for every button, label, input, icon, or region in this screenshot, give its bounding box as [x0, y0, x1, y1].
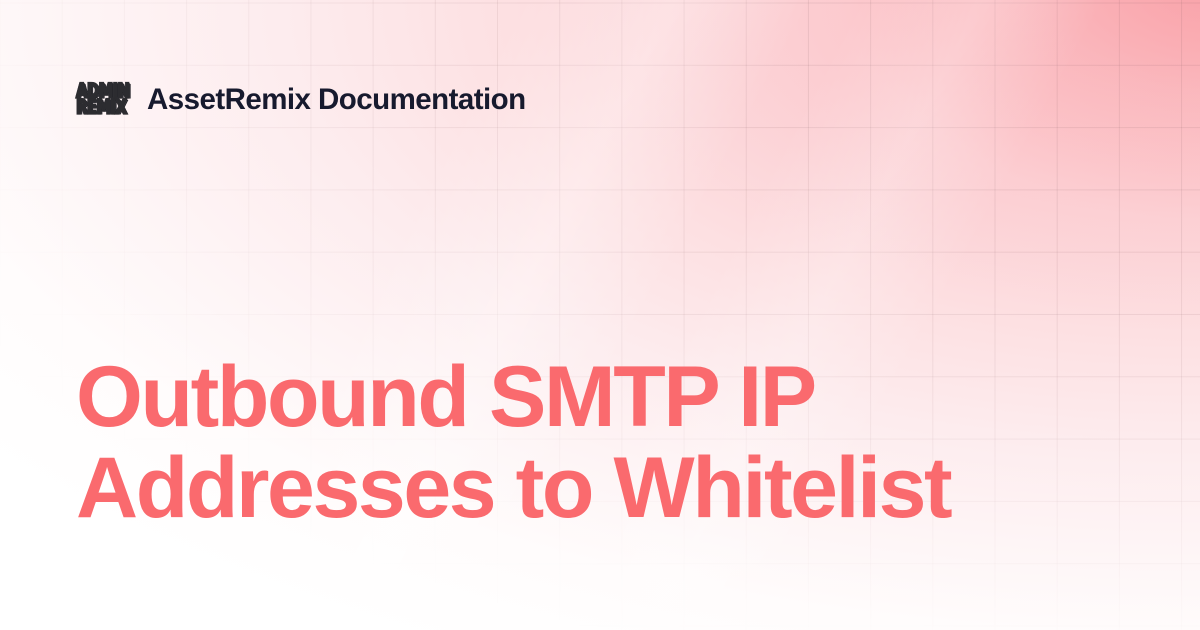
page-title-line-2: Addresses to Whitelist [76, 443, 1136, 534]
page-title: Outbound SMTP IP Addresses to Whitelist [76, 352, 1136, 534]
logo-line-bottom: REMIX [76, 99, 126, 118]
card-content: ADMIN REMIX AssetRemix Documentation Out… [0, 0, 1200, 630]
og-card: ADMIN REMIX AssetRemix Documentation Out… [0, 0, 1200, 630]
page-title-line-1: Outbound SMTP IP [76, 352, 1136, 443]
admin-remix-logo-icon: ADMIN REMIX [76, 74, 134, 126]
brand-row: ADMIN REMIX AssetRemix Documentation [76, 74, 526, 126]
brand-title: AssetRemix Documentation [147, 83, 526, 117]
